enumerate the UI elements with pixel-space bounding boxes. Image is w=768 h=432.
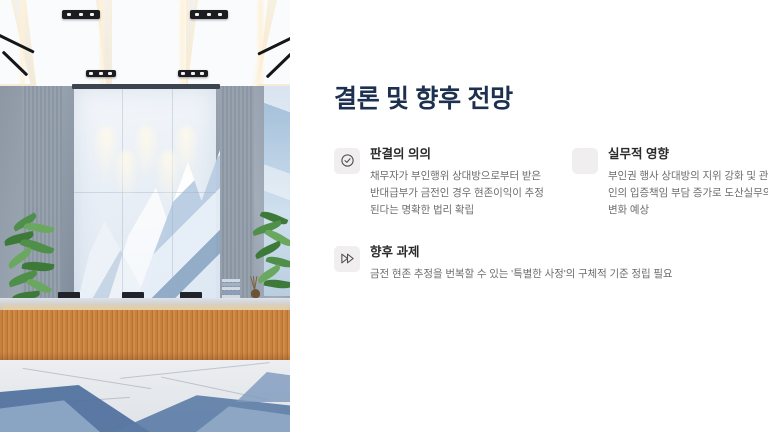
card-future-tasks: 향후 과제 금전 현존 추정을 번복할 수 있는 '특별한 사정'의 구체적 기… <box>334 245 672 283</box>
feature-wall-art <box>74 88 216 300</box>
card-title: 판결의 의의 <box>370 147 544 162</box>
card-text: 부인권 행사 상대방의 지위 강화 및 관리인의 입증책임 부담 증가로 도산실… <box>608 168 768 219</box>
slide-title: 결론 및 향후 전망 <box>334 0 768 114</box>
card-practical-impact: 실무적 영향 부인권 행사 상대방의 지위 강화 및 관리인의 입증책임 부담 … <box>572 147 768 219</box>
desk-books <box>222 279 240 298</box>
fast-forward-icon <box>334 246 360 272</box>
wall-header-trim <box>72 84 220 89</box>
desk-reed-diffuser <box>250 274 260 298</box>
check-circle-icon <box>334 148 360 174</box>
card-text: 금전 현존 추정을 번복할 수 있는 '특별한 사정'의 구체적 기준 정립 필… <box>370 266 672 283</box>
plant-left <box>2 214 64 306</box>
card-title: 실무적 영향 <box>608 147 768 162</box>
cards-row-top: 판결의 의의 채무자가 부인행위 상대방으로부터 받은 반대급부가 금전인 경우… <box>334 147 768 219</box>
blank-square-icon <box>572 148 598 174</box>
slide: 결론 및 향후 전망 판결의 의의 채무자가 부인행위 상대방으로부터 받은 반… <box>0 0 768 432</box>
card-title: 향후 과제 <box>370 245 672 260</box>
card-judgment-significance: 판결의 의의 채무자가 부인행위 상대방으로부터 받은 반대급부가 금전인 경우… <box>334 147 544 219</box>
card-body: 실무적 영향 부인권 행사 상대방의 지위 강화 및 관리인의 입증책임 부담 … <box>608 147 768 219</box>
card-text: 채무자가 부인행위 상대방으로부터 받은 반대급부가 금전인 경우 현존이익이 … <box>370 168 544 219</box>
card-body: 향후 과제 금전 현존 추정을 번복할 수 있는 '특별한 사정'의 구체적 기… <box>370 245 672 283</box>
cards-row-bottom: 향후 과제 금전 현존 추정을 번복할 수 있는 '특별한 사정'의 구체적 기… <box>334 245 768 283</box>
card-body: 판결의 의의 채무자가 부인행위 상대방으로부터 받은 반대급부가 금전인 경우… <box>370 147 544 219</box>
content-panel: 결론 및 향후 전망 판결의 의의 채무자가 부인행위 상대방으로부터 받은 반… <box>290 0 768 432</box>
lobby-photo <box>0 0 290 432</box>
